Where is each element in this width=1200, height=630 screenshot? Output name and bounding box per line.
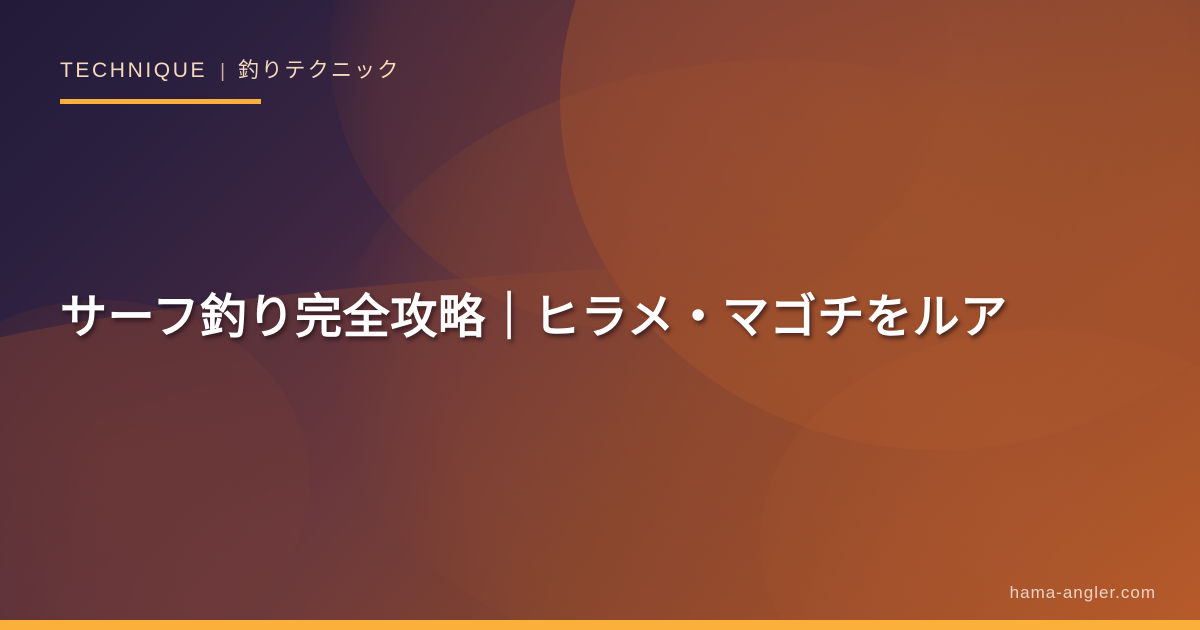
category-label-en: TECHNIQUE [60, 59, 207, 83]
decorative-blob-top-right [560, 0, 1200, 450]
site-url: hama-angler.com [1010, 583, 1156, 603]
og-card: TECHNIQUE | 釣りテクニック サーフ釣り完全攻略｜ヒラメ・マゴチをルア… [0, 0, 1200, 630]
bottom-accent-bar [0, 620, 1200, 630]
category-label-ja: 釣りテクニック [238, 54, 400, 84]
decorative-blob-left [0, 300, 310, 630]
decorative-blob-top-center [330, 0, 950, 330]
accent-underline [60, 99, 261, 104]
page-title: サーフ釣り完全攻略｜ヒラメ・マゴチをルア [60, 286, 1140, 349]
category-label: TECHNIQUE | 釣りテクニック [60, 54, 400, 84]
category-separator: | [220, 61, 225, 83]
